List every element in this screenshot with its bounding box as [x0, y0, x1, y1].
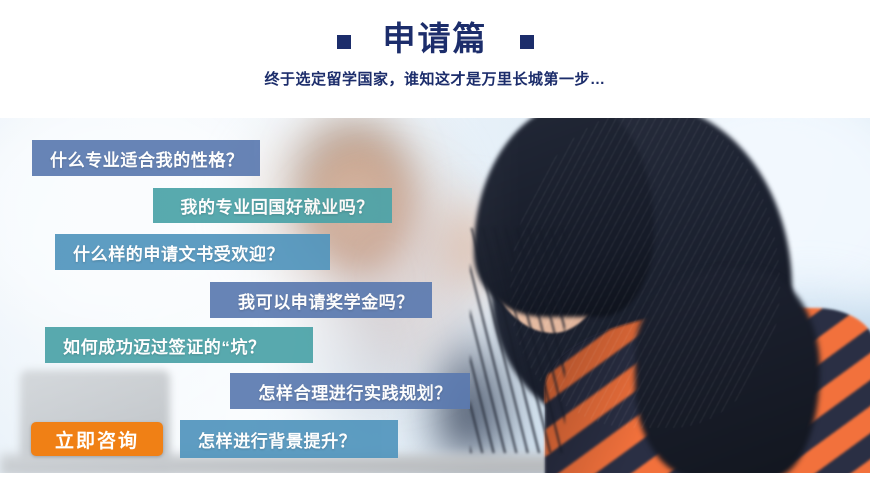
square-bullet-icon	[520, 35, 534, 49]
page-header: 申请篇 终于选定留学国家，谁知这才是万里长城第一步…	[0, 0, 870, 118]
hair-wisp	[470, 228, 565, 453]
page-footer	[0, 473, 870, 492]
page-title: 申请篇	[383, 19, 488, 59]
question-bar[interactable]: 什么专业适合我的性格？	[32, 140, 260, 176]
foreground-student	[450, 118, 870, 473]
question-bar[interactable]: 我可以申请奖学金吗？	[210, 282, 432, 318]
question-bar[interactable]: 如何成功迈过签证的“坑？	[45, 327, 313, 363]
promo-banner: 申请篇 终于选定留学国家，谁知这才是万里长城第一步…	[0, 0, 870, 492]
question-bar[interactable]: 我的专业回国好就业吗？	[153, 188, 392, 223]
consult-now-button[interactable]: 立即咨询	[31, 422, 163, 456]
question-bar[interactable]: 怎样合理进行实践规划？	[230, 373, 470, 409]
question-bar[interactable]: 怎样进行背景提升？	[180, 420, 398, 458]
page-subtitle: 终于选定留学国家，谁知这才是万里长城第一步…	[264, 70, 605, 90]
question-bar[interactable]: 什么样的申请文书受欢迎？	[55, 234, 330, 270]
square-bullet-icon	[337, 35, 351, 49]
title-row: 申请篇	[337, 18, 534, 60]
